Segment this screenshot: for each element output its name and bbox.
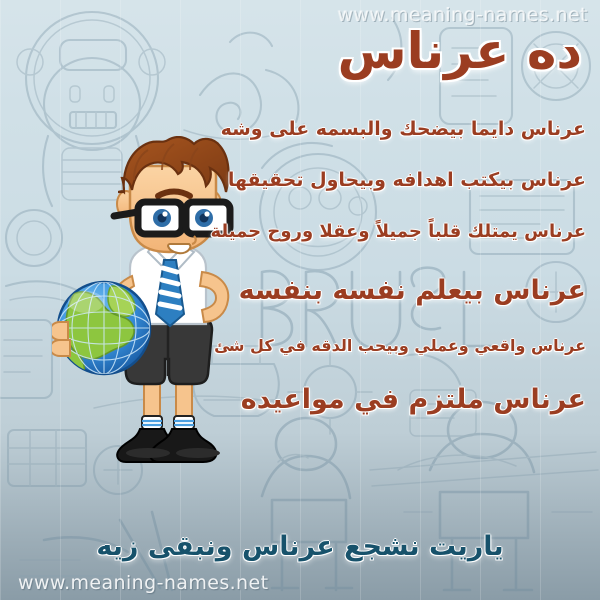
phrase-item-3: عرناس يمتلك قلباً جميلاً وعقلا وروح جميل… xyxy=(186,221,586,242)
page-title: ده عرناس xyxy=(338,26,582,76)
tagline: ياريت نشجع عرناس ونبقى زيه xyxy=(0,531,600,562)
phrase-item-2: عرناس بيكتب اهدافه وبيحاول تحقيقها xyxy=(186,169,586,191)
watermark-bottom: www.meaning-names.net xyxy=(18,572,268,594)
phrase-list: عرناس دايما بيضحك والبسمه على وشه عرناس … xyxy=(186,118,586,415)
phrase-item-4: عرناس بيعلم نفسه بنفسه xyxy=(186,275,586,306)
phrase-item-1: عرناس دايما بيضحك والبسمه على وشه xyxy=(186,118,586,140)
name-meaning-card: www.meaning-names.net ده عرناس xyxy=(0,0,600,600)
phrase-item-6: عرناس ملتزم في مواعيده xyxy=(186,384,586,415)
phrase-item-5: عرناس واقعي وعملي وبيحب الدقه في كل شئ xyxy=(186,336,586,355)
